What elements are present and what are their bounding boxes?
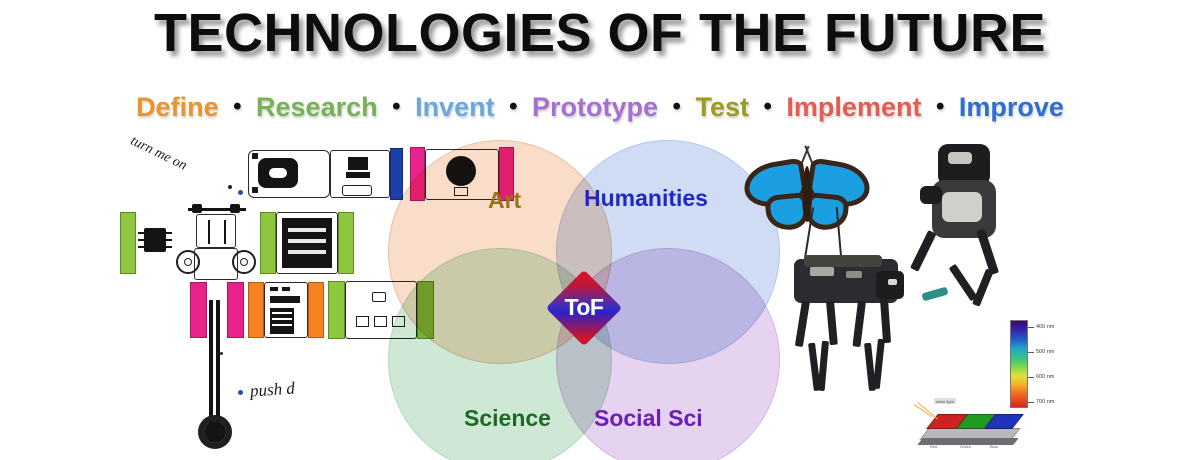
- bit-ic-pin: [138, 239, 144, 241]
- tof-badge-label: ToF: [557, 294, 611, 321]
- bit-connector-orange: [248, 282, 264, 338]
- bit-slider-line: [224, 220, 226, 244]
- bit-connector-green: [338, 212, 354, 274]
- bit-connector-green: [120, 212, 136, 274]
- process-steps: Define • Research • Invent • Prototype •…: [0, 92, 1200, 123]
- bit-button-inner: [266, 165, 290, 181]
- bit-board-socket: [356, 316, 369, 327]
- butterfly-body: [803, 166, 811, 222]
- bit-slider-body[interactable]: [196, 214, 236, 248]
- bit-board-socket: [374, 316, 387, 327]
- robot-body-highlight: [810, 267, 834, 276]
- bit-wheel-hub: [184, 258, 192, 266]
- spectrum-tick: [1028, 327, 1034, 328]
- bit-logic-dip: [282, 287, 290, 291]
- spectrum-tick-label-500: 500 nm: [1036, 349, 1054, 355]
- robot-back-panel: [804, 255, 882, 267]
- slide-canvas: TECHNOLOGIES OF THE FUTURE Define • Rese…: [0, 0, 1200, 460]
- process-step-prototype[interactable]: Prototype: [532, 92, 658, 122]
- bit-white-part: [342, 185, 372, 196]
- robot-shoulder: [920, 186, 942, 204]
- venn-label-socialsci: Social Sci: [594, 405, 703, 432]
- bit-connector-magenta: [227, 282, 244, 338]
- device-layer-label-red: Red: [930, 444, 937, 449]
- venn-label-humanities: Humanities: [584, 185, 708, 212]
- spectrum-tick-label-700: 700 nm: [1036, 399, 1054, 405]
- step-separator: •: [502, 93, 524, 120]
- bit-display-screen: [282, 218, 332, 268]
- bit-wheel-hub: [240, 258, 248, 266]
- bit-connector-magenta: [190, 282, 207, 338]
- robot-leg: [826, 301, 838, 346]
- bit-logic-stripe: [272, 324, 292, 326]
- step-separator: •: [757, 93, 779, 120]
- bit-ic-pin: [166, 246, 172, 248]
- robot-body-highlight: [846, 271, 862, 278]
- process-step-implement[interactable]: Implement: [786, 92, 921, 122]
- spectrum-tick: [1028, 352, 1034, 353]
- bit-logic-stripe: [272, 318, 292, 320]
- bit-logic-stripe: [272, 312, 292, 314]
- bit-ic-pin: [138, 232, 144, 234]
- process-step-define[interactable]: Define: [136, 92, 219, 122]
- robot-leg: [880, 299, 891, 343]
- venn-label-science: Science: [464, 405, 551, 432]
- process-step-invent[interactable]: Invent: [415, 92, 495, 122]
- robot-foot-marker: [921, 287, 948, 302]
- bit-plug-core: [204, 421, 226, 443]
- bit-cable: [216, 300, 220, 430]
- process-step-test[interactable]: Test: [695, 92, 749, 122]
- ink-dot: [228, 185, 232, 189]
- bit-slider-knob: [192, 204, 202, 213]
- bit-display-line: [288, 228, 326, 232]
- bit-sensor-chip: [348, 157, 368, 170]
- venn-label-art: Art: [488, 187, 521, 214]
- device-layer-label-blue: Blue: [990, 444, 998, 449]
- spectrum-colorbar: [1010, 320, 1028, 408]
- bit-board-pad: [372, 292, 386, 302]
- robot-leg: [910, 230, 937, 272]
- spectrum-tick: [1028, 402, 1034, 403]
- process-step-improve[interactable]: Improve: [959, 92, 1064, 122]
- page-title: TECHNOLOGIES OF THE FUTURE: [0, 2, 1200, 64]
- bit-display-line: [288, 239, 326, 243]
- bit-display-line: [288, 250, 326, 254]
- robot-leg: [795, 300, 810, 347]
- bit-connector-green: [260, 212, 276, 274]
- bit-pad: [252, 187, 258, 193]
- spectrum-tick: [1028, 377, 1034, 378]
- step-separator: •: [666, 93, 688, 120]
- bit-connector-orange: [308, 282, 324, 338]
- bit-ic-pin: [166, 239, 172, 241]
- robot-leg: [818, 341, 829, 391]
- layered-rgb-photonic-device: white light Red Green Blue: [908, 398, 1018, 456]
- ink-dot: [238, 390, 243, 395]
- quadruped-robot-front: [790, 255, 910, 400]
- robot-head-highlight: [948, 152, 972, 164]
- ink-dot: [220, 352, 223, 355]
- robot-leg: [852, 301, 866, 348]
- ink-dot: [238, 190, 243, 195]
- step-separator: •: [226, 93, 248, 120]
- robot-torso-panel: [942, 192, 982, 222]
- robot-head: [876, 271, 904, 299]
- bit-sensor-base: [346, 172, 370, 178]
- bit-slider-knob: [230, 204, 240, 213]
- bit-ic-pin: [166, 232, 172, 234]
- spectrum-tick-label-400: 400 nm: [1036, 324, 1054, 330]
- robot-sensor-light: [888, 279, 897, 285]
- bit-pad: [252, 153, 258, 159]
- bit-ic-chip: [144, 228, 166, 252]
- bit-slider-line: [208, 220, 210, 244]
- bit-logic-dip: [270, 287, 278, 291]
- device-ray-label: white light: [934, 398, 956, 404]
- step-separator: •: [385, 93, 407, 120]
- device-layer-label-green: Green: [960, 444, 971, 449]
- bit-connector-green: [328, 281, 345, 339]
- bit-ic-pin: [138, 246, 144, 248]
- handwritten-note-push-d: push d: [249, 378, 295, 401]
- bit-logic-dip: [270, 296, 300, 303]
- robot-leg: [949, 264, 978, 302]
- handwritten-note-turn-me-on: turn me on: [128, 134, 190, 175]
- process-step-research[interactable]: Research: [256, 92, 378, 122]
- robot-leg: [972, 269, 994, 307]
- bit-cable: [209, 300, 213, 430]
- quadruped-robot-jumping: [920, 142, 1050, 307]
- incident-light-ray: [917, 402, 938, 420]
- step-separator: •: [929, 93, 951, 120]
- robot-leg: [873, 339, 885, 389]
- spectrum-tick-label-600: 600 nm: [1036, 374, 1054, 380]
